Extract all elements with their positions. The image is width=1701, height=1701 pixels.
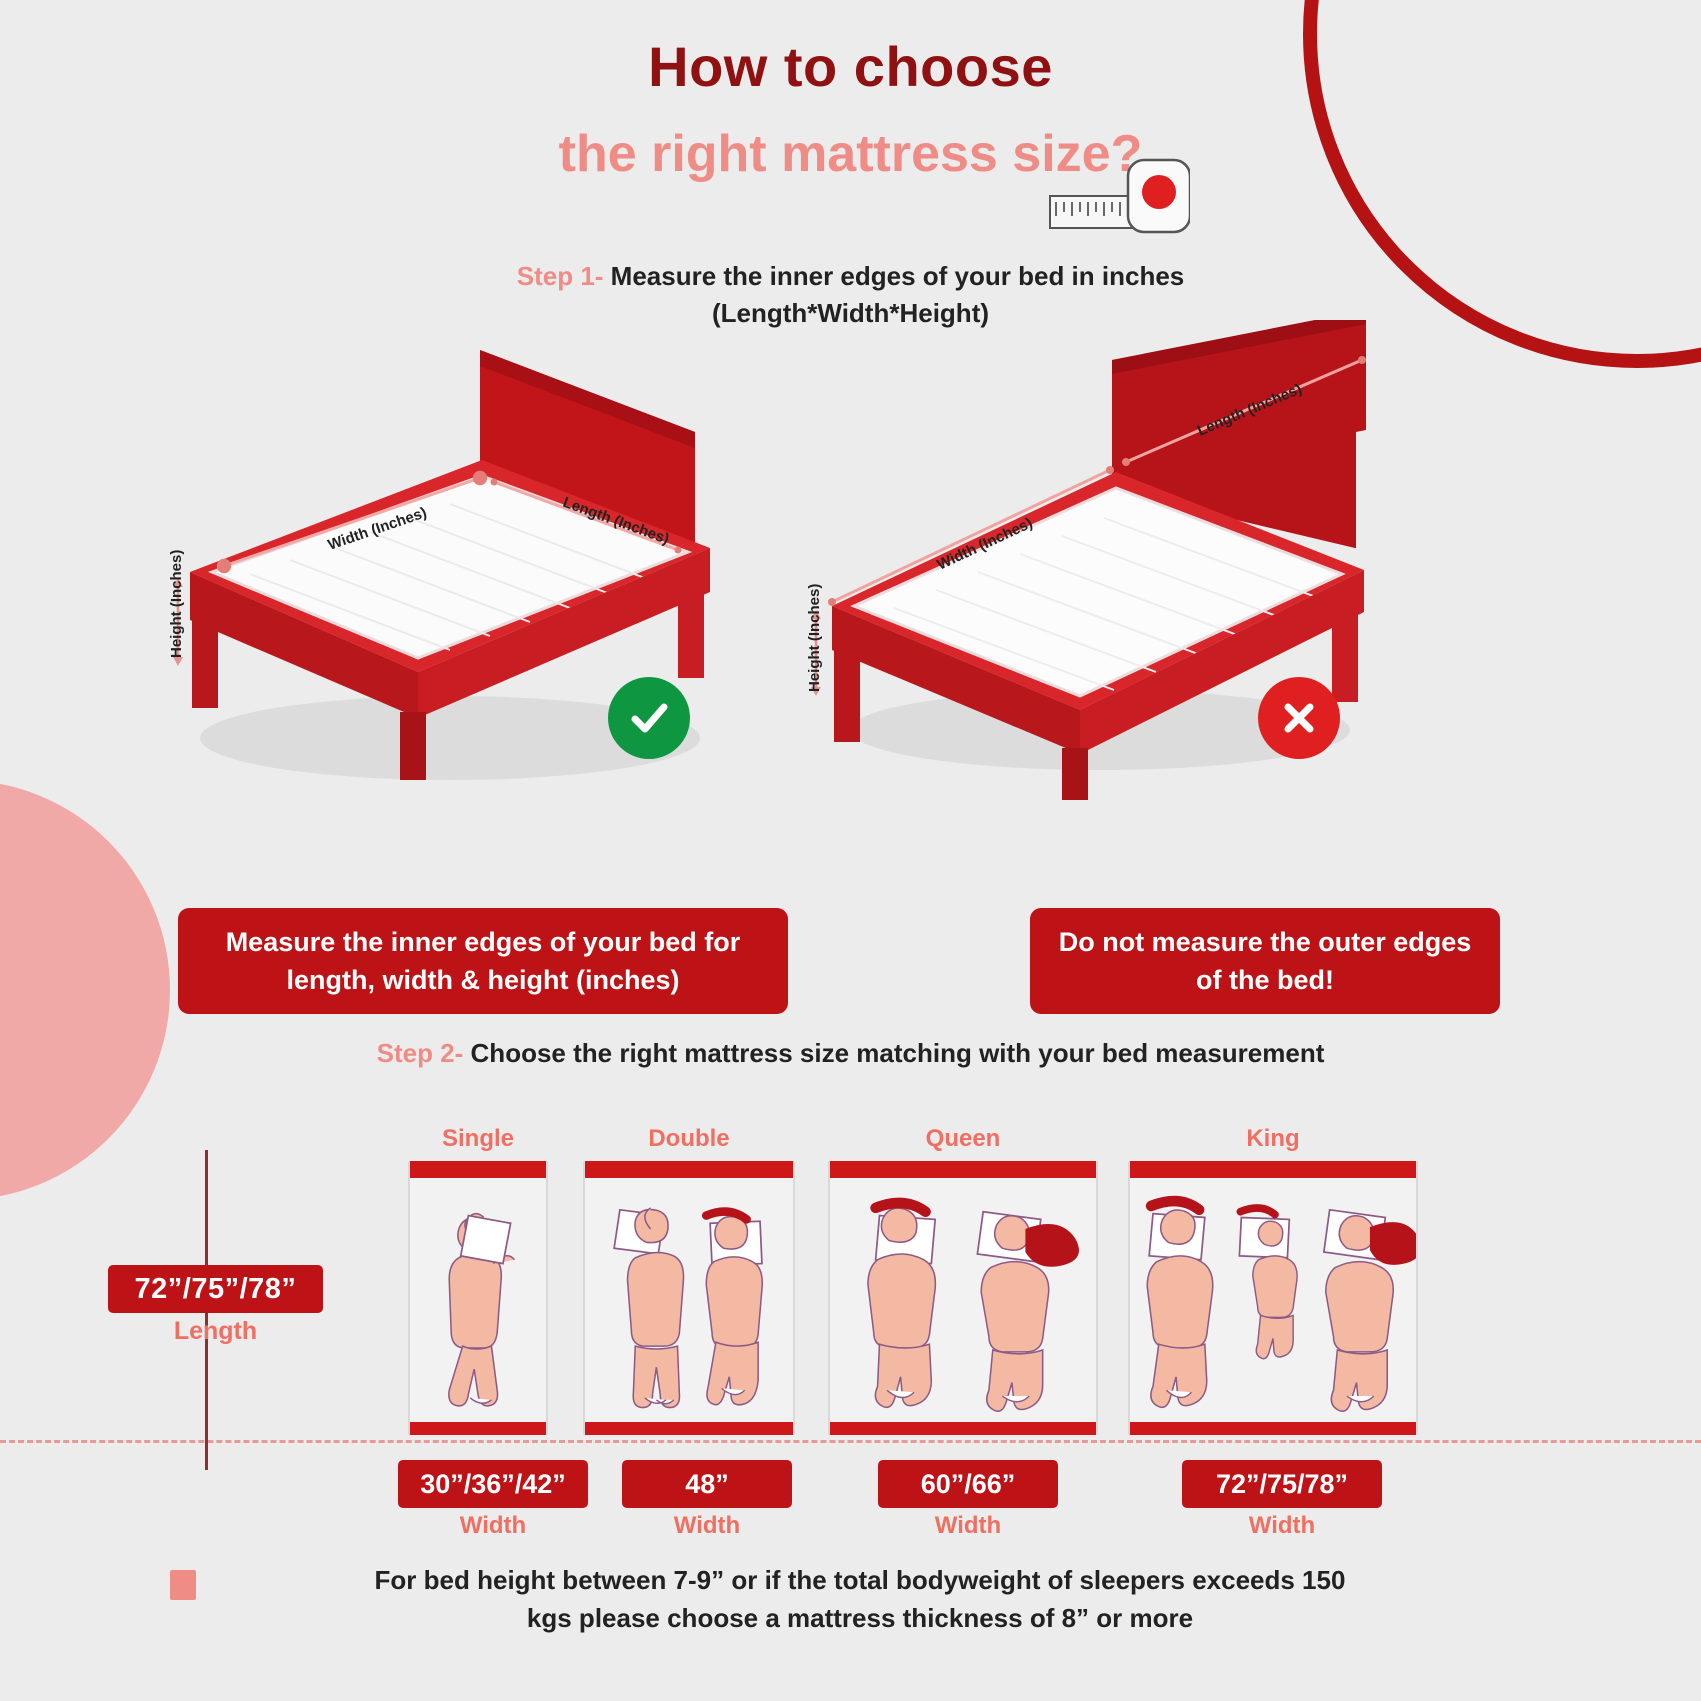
width-caption-single: Width (398, 1512, 588, 1540)
sleeper-figures-queen (830, 1181, 1096, 1421)
width-badge-king: 72”/75/78” (1182, 1460, 1382, 1508)
page-title-line1: How to choose (0, 36, 1701, 99)
sleeper-figures-double (585, 1181, 793, 1421)
size-label-queen: Queen (828, 1125, 1098, 1153)
step2-number: Step 2- (377, 1038, 464, 1068)
size-label-king: King (1128, 1125, 1418, 1153)
infographic-canvas: How to choose the right mattress size? S… (0, 0, 1701, 1701)
size-column-double[interactable]: Double (583, 1125, 795, 1435)
step1-number: Step 1- (517, 261, 604, 291)
page-title-line2: the right mattress size? (0, 125, 1701, 183)
cross-icon (1258, 677, 1340, 759)
footnote: For bed height between 7-9” or if the to… (170, 1562, 1550, 1637)
footnote-line1: For bed height between 7-9” or if the to… (375, 1565, 1346, 1595)
footnote-line2: kgs please choose a mattress thickness o… (527, 1603, 1193, 1633)
mattress-double (583, 1161, 795, 1435)
mattress-size-columns: Single Double (408, 1125, 1418, 1435)
width-badge-single: 30”/36”/42” (398, 1460, 588, 1508)
callout-correct: Measure the inner edges of your bed for … (178, 908, 788, 1014)
width-badge-double: 48” (622, 1460, 792, 1508)
size-label-double: Double (583, 1125, 795, 1153)
width-caption-queen: Width (878, 1512, 1058, 1540)
size-column-king[interactable]: King (1128, 1125, 1418, 1435)
tape-measure-icon (1040, 150, 1190, 235)
step2-instruction: Step 2- Choose the right mattress size m… (0, 1038, 1701, 1069)
length-value-badge: 72”/75”/78” (108, 1265, 323, 1313)
decorative-circle-left (0, 780, 170, 1200)
check-icon (608, 677, 690, 759)
length-caption: Length (108, 1317, 323, 1346)
width-caption-king: Width (1182, 1512, 1382, 1540)
step1-line1: Measure the inner edges of your bed in i… (611, 261, 1185, 291)
mattress-queen (828, 1161, 1098, 1435)
sleeper-figures-king (1130, 1181, 1416, 1421)
bed-left-height-label: Height (Inches) (168, 550, 185, 658)
size-label-single: Single (408, 1125, 548, 1153)
bed-right-height-label: Height (Inches) (806, 584, 823, 692)
step2-text: Choose the right mattress size matching … (471, 1038, 1325, 1068)
callout-incorrect: Do not measure the outer edges of the be… (1030, 908, 1500, 1014)
size-column-single[interactable]: Single (408, 1125, 548, 1435)
decorative-dashed-divider (0, 1440, 1701, 1443)
mattress-king (1128, 1161, 1418, 1435)
sleeper-figures-single (410, 1181, 546, 1421)
width-caption-double: Width (622, 1512, 792, 1540)
mattress-single (408, 1161, 548, 1435)
size-column-queen[interactable]: Queen (828, 1125, 1098, 1435)
width-badge-queen: 60”/66” (878, 1460, 1058, 1508)
